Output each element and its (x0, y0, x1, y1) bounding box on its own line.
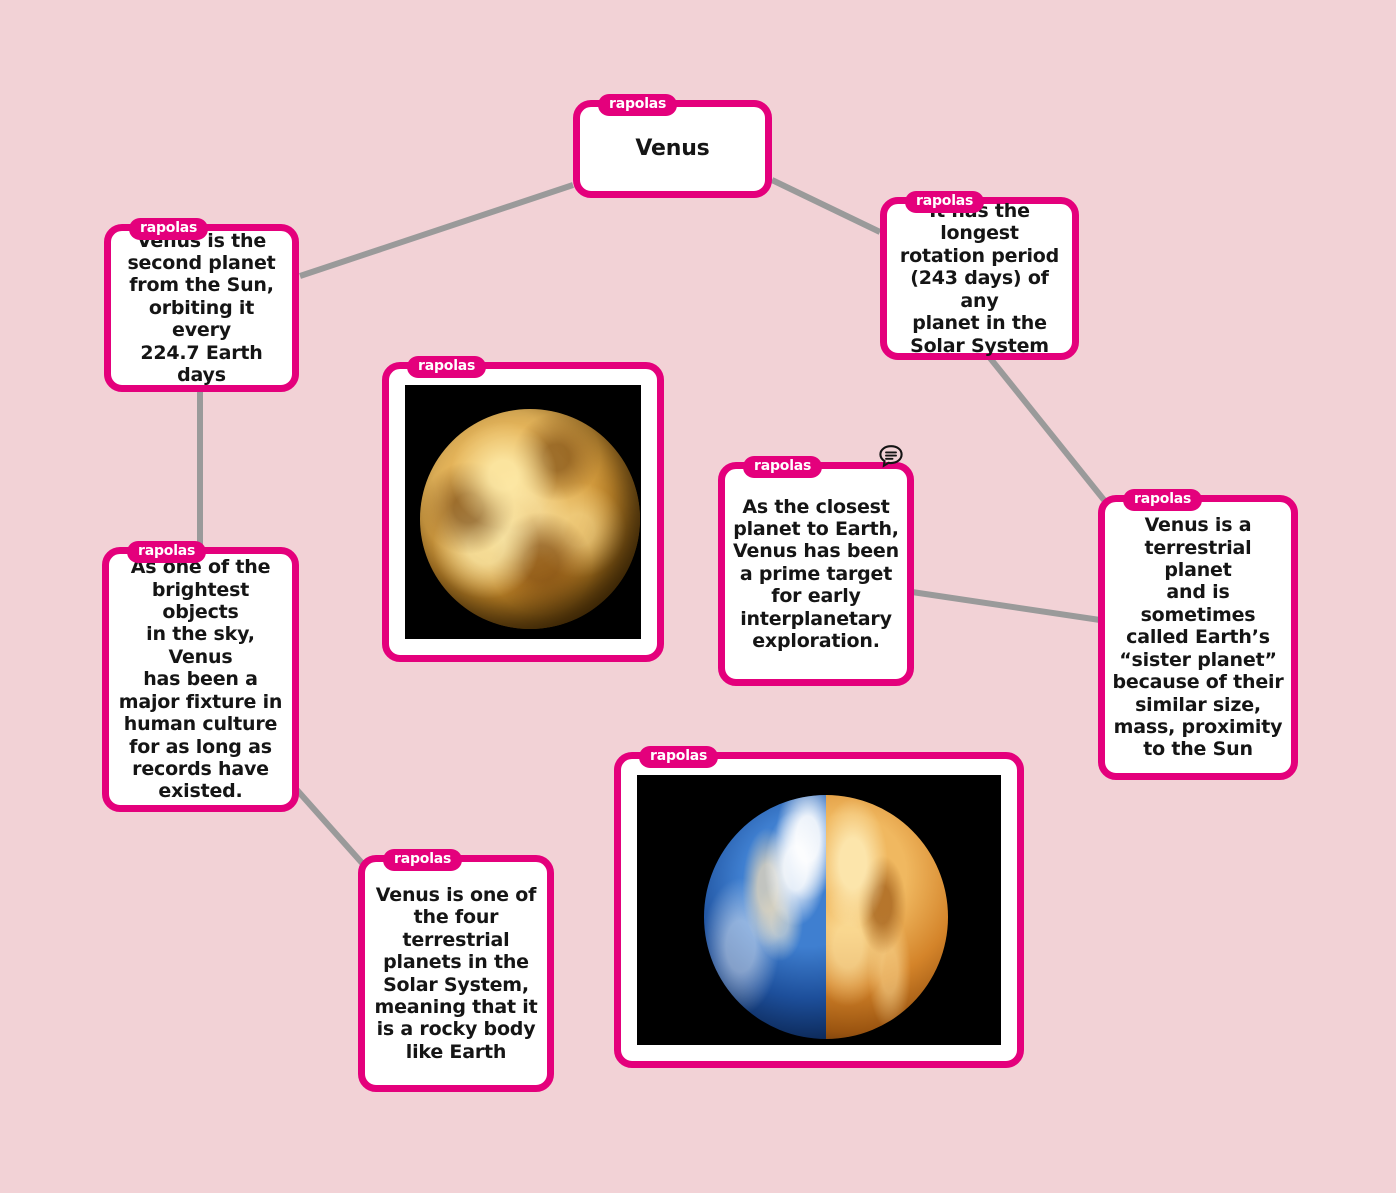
node-tag-label[interactable]: rapolas (383, 849, 462, 871)
node-tag-label[interactable]: rapolas (129, 218, 208, 240)
node-tag-label[interactable]: rapolas (598, 94, 677, 116)
node-text: It has the longest rotation period (243 … (887, 196, 1072, 361)
node-text: Venus is a terrestrial planet and is som… (1105, 510, 1291, 764)
edge-root-to-rotation-period[interactable] (772, 180, 880, 232)
node-second-planet[interactable]: rapolasVenus is the second planet from t… (104, 224, 299, 392)
venus-planet-image (405, 385, 641, 639)
node-brightest-object[interactable]: rapolasAs one of the brightest objects i… (102, 547, 299, 812)
edge-rotation-period-to-sister[interactable] (990, 358, 1104, 500)
edge-closest-to-sister[interactable] (912, 592, 1100, 620)
node-sister-planet[interactable]: rapolasVenus is a terrestrial planet and… (1098, 495, 1298, 780)
node-tag-label[interactable]: rapolas (407, 356, 486, 378)
node-tag-label[interactable]: rapolas (127, 541, 206, 563)
node-text: As the closest planet to Earth, Venus ha… (727, 492, 905, 657)
node-closest-planet[interactable]: rapolasAs the closest planet to Earth, V… (718, 462, 914, 686)
node-four-terrestrial[interactable]: rapolasVenus is one of the four terrestr… (358, 855, 554, 1092)
edge-brightest-to-four-terrestrial[interactable] (297, 790, 362, 863)
node-tag-label[interactable]: rapolas (905, 191, 984, 213)
venus-globe-shape (420, 409, 640, 629)
earth-venus-comparison-image (637, 775, 1001, 1045)
node-rotation-period[interactable]: rapolasIt has the longest rotation perio… (880, 197, 1079, 360)
venus-hemisphere (826, 795, 948, 1039)
mindmap-canvas: rapolasVenusrapolasVenus is the second p… (0, 0, 1396, 1193)
node-tag-label[interactable]: rapolas (639, 746, 718, 768)
earth-hemisphere (704, 795, 826, 1039)
node-text: Venus is one of the four terrestrial pla… (368, 880, 543, 1067)
node-text: As one of the brightest objects in the s… (109, 552, 292, 806)
node-text: Venus is the second planet from the Sun,… (111, 226, 292, 391)
earth-venus-split-shape (704, 795, 948, 1039)
node-tag-label[interactable]: rapolas (1123, 489, 1202, 511)
node-earth-venus-photo[interactable]: rapolas (614, 752, 1024, 1068)
node-venus-root[interactable]: rapolasVenus (573, 100, 772, 198)
node-text: Venus (629, 132, 715, 166)
node-venus-photo[interactable]: rapolas (382, 362, 664, 662)
node-tag-label[interactable]: rapolas (743, 456, 822, 478)
edge-root-to-second-planet[interactable] (300, 185, 573, 276)
comment-bubble-icon[interactable] (878, 444, 904, 470)
